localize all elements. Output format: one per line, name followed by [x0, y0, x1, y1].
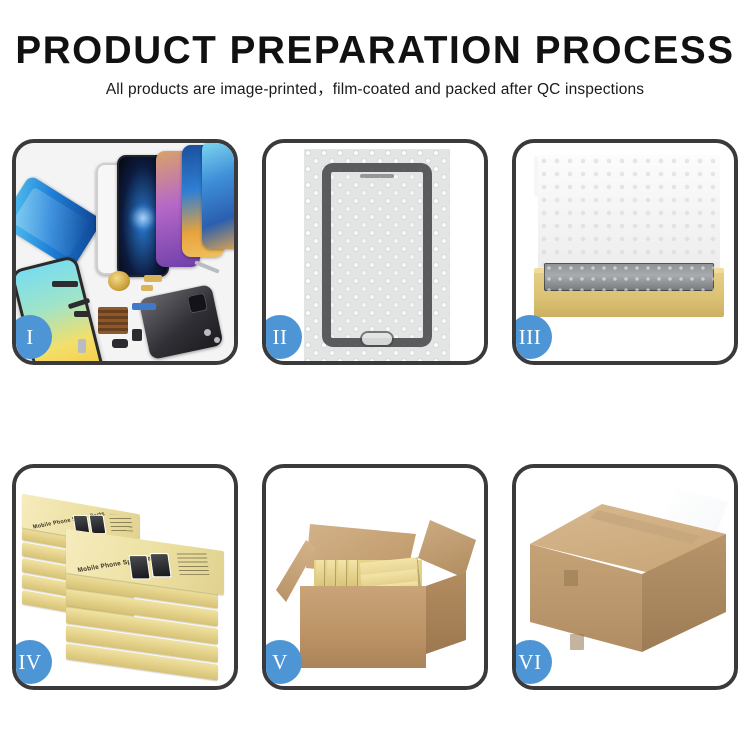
spare-part-camera [132, 329, 142, 341]
carton-front [300, 586, 426, 668]
box-stack: Mobile Phone Spare Parts Mobile Phone Sp… [22, 490, 234, 676]
page-subtitle: All products are image-printed，film-coat… [0, 79, 750, 101]
bubble-wrap-sheet [304, 149, 450, 361]
wrapped-phone-screen [322, 163, 432, 347]
step-panel-bubble-wrapped-screen[interactable]: II [262, 139, 488, 365]
page-header: PRODUCT PREPARATION PROCESS All products… [0, 0, 750, 101]
packed-screen [544, 263, 714, 291]
spare-part-strip [52, 281, 78, 287]
spare-part-flex-gold [144, 275, 162, 282]
process-step-grid: I II [0, 137, 750, 707]
spare-part-flex-blue [132, 303, 156, 310]
process-step-1: I [0, 137, 250, 367]
process-step-3: III [500, 137, 750, 367]
step-panel-open-carton[interactable]: V [262, 464, 488, 690]
box-thumbnail-front-2 [149, 553, 171, 577]
process-step-2: II [250, 137, 500, 367]
phone-screen-cyan-wave [202, 143, 234, 249]
step-panel-phones-and-parts[interactable]: I [12, 139, 238, 365]
screen-earpiece [360, 174, 394, 178]
connector-chip-grid [98, 307, 128, 334]
carton-flap-seam-top [564, 570, 578, 586]
kraft-box-base [534, 271, 724, 317]
step-panel-screen-in-box[interactable]: III [512, 139, 738, 365]
spare-part-battery-pin [78, 339, 86, 353]
process-step-4: Mobile Phone Spare Parts Mobile Phone Sp… [0, 462, 250, 692]
spare-part-flex-gold-2 [141, 285, 153, 291]
spare-part-speaker [112, 339, 128, 348]
box-spec-text-front [177, 553, 210, 575]
step-panel-stacked-boxes[interactable]: Mobile Phone Spare Parts Mobile Phone Sp… [12, 464, 238, 690]
spare-part-screw-2 [214, 337, 220, 343]
spare-part-button [74, 311, 90, 317]
box-thumbnail-2 [89, 515, 107, 535]
process-step-5: V [250, 462, 500, 692]
process-step-6: VI [500, 462, 750, 692]
box-spec-text [109, 515, 133, 532]
page-title: PRODUCT PREPARATION PROCESS [4, 28, 747, 74]
spare-part-screw [204, 329, 211, 336]
carton-side [426, 572, 466, 654]
step-panel-sealed-carton[interactable]: VI [512, 464, 738, 690]
carton-flap-seam-bottom [570, 634, 584, 650]
gold-coil-part [108, 271, 130, 291]
box-thumbnail-front [128, 555, 150, 579]
